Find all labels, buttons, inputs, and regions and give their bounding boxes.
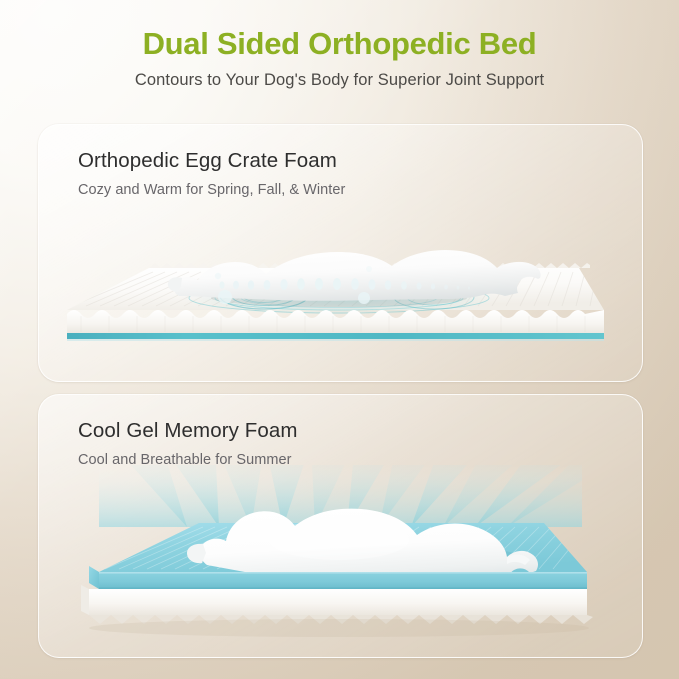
feature-card-orthopedic-egg-crate-foam: Orthopedic Egg Crate Foam Cozy and Warm …: [38, 124, 643, 382]
card-1-title: Orthopedic Egg Crate Foam: [78, 149, 345, 174]
card-2-title: Cool Gel Memory Foam: [78, 419, 298, 444]
feature-card-cool-gel-memory-foam: Cool Gel Memory Foam Cool and Breathable…: [38, 394, 643, 658]
white-foam-base: [81, 585, 593, 637]
card-1-subtitle: Cozy and Warm for Spring, Fall, & Winter: [78, 182, 345, 199]
page-subtitle: Contours to Your Dog's Body for Superior…: [0, 71, 679, 91]
product-infographic: Dual Sided Orthopedic Bed Contours to Yo…: [0, 0, 679, 679]
teal-base-strip: [67, 333, 604, 339]
card-1-header: Orthopedic Egg Crate Foam Cozy and Warm …: [78, 149, 345, 199]
egg-crate-foam-illustration: [39, 206, 642, 381]
gel-memory-foam-illustration: [39, 465, 642, 657]
card-2-header: Cool Gel Memory Foam Cool and Breathable…: [78, 419, 298, 469]
poster-header: Dual Sided Orthopedic Bed Contours to Yo…: [0, 26, 679, 90]
card-2-subtitle: Cool and Breathable for Summer: [78, 452, 298, 469]
page-title: Dual Sided Orthopedic Bed: [0, 26, 679, 62]
